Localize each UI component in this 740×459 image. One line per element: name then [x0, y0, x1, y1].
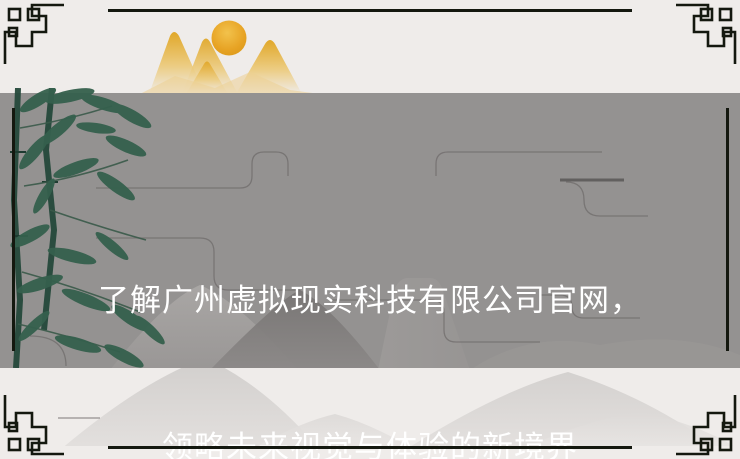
- fret-square: [701, 9, 712, 20]
- fret-square: [9, 9, 20, 20]
- fret-square: [701, 439, 712, 450]
- fret-path-outer: [5, 395, 64, 454]
- frame-line-bottom: [108, 446, 632, 449]
- fret-path-outer: [676, 395, 735, 454]
- fret-square: [720, 439, 731, 450]
- fret-square: [9, 439, 20, 450]
- banner-image: 了解广州虚拟现实科技有限公司官网， 领略未来视觉与体验的新境界: [0, 0, 740, 459]
- fret-path-outer: [676, 5, 735, 64]
- background-band-top: [0, 0, 740, 93]
- corner-ornament-bottom-left: [2, 395, 64, 457]
- frame-line-left: [12, 108, 15, 351]
- corner-ornament-top-left: [2, 2, 64, 64]
- fret-path-outer: [5, 5, 64, 64]
- corner-ornament-bottom-right: [676, 395, 738, 457]
- fret-square: [720, 9, 731, 20]
- frame-line-right: [726, 108, 729, 351]
- headline-text: 了解广州虚拟现实科技有限公司官网， 领略未来视觉与体验的新境界: [0, 178, 740, 459]
- fret-square: [28, 439, 39, 450]
- corner-ornament-top-right: [676, 2, 738, 64]
- fret-square: [28, 9, 39, 20]
- headline-line-1: 了解广州虚拟现实科技有限公司官网，: [0, 276, 740, 325]
- headline-line-2: 领略未来视觉与体验的新境界: [0, 423, 740, 459]
- frame-line-top: [108, 9, 632, 12]
